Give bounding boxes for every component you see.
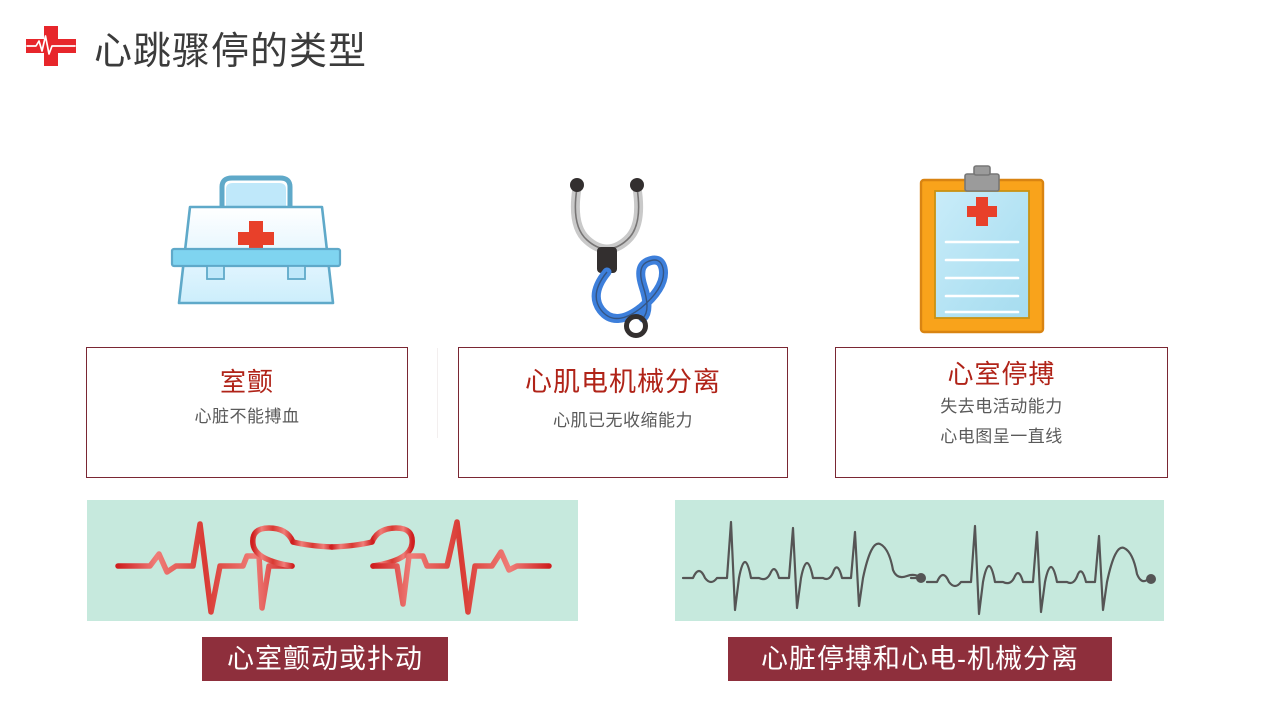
medical-kit-icon bbox=[160, 165, 350, 320]
ecg-strip-asystole bbox=[675, 500, 1164, 621]
caption-cardiac-arrest-emd: 心脏停搏和心电-机械分离 bbox=[728, 637, 1112, 681]
card-subtitle-line: 失去电活动能力 bbox=[836, 394, 1167, 420]
card-title: 室颤 bbox=[87, 366, 407, 398]
card-title: 心室停搏 bbox=[836, 358, 1167, 390]
card-title: 心肌电机械分离 bbox=[459, 366, 787, 398]
clipboard-icon bbox=[908, 160, 1056, 338]
card-subtitle-line: 心脏不能搏血 bbox=[87, 404, 407, 430]
slide-root: 心跳骤停的类型 bbox=[0, 0, 1280, 720]
card-ventricular-fibrillation[interactable]: 室颤 心脏不能搏血 bbox=[86, 347, 408, 478]
caption-ventricular-fibrillation: 心室颤动或扑动 bbox=[202, 637, 448, 681]
slide-header: 心跳骤停的类型 bbox=[0, 0, 1280, 100]
card-divider bbox=[437, 348, 438, 438]
card-electromechanical-dissociation[interactable]: 心肌电机械分离 心肌已无收缩能力 bbox=[458, 347, 788, 478]
card-subtitle-line: 心肌已无收缩能力 bbox=[459, 408, 787, 434]
card-subtitle-line: 心电图呈一直线 bbox=[836, 424, 1167, 450]
ecg-strip-fibrillation bbox=[87, 500, 578, 621]
card-ventricular-asystole[interactable]: 心室停搏 失去电活动能力 心电图呈一直线 bbox=[835, 347, 1168, 478]
red-cross-ecg-icon bbox=[24, 24, 78, 68]
page-title: 心跳骤停的类型 bbox=[94, 25, 367, 79]
stethoscope-icon bbox=[545, 168, 705, 343]
